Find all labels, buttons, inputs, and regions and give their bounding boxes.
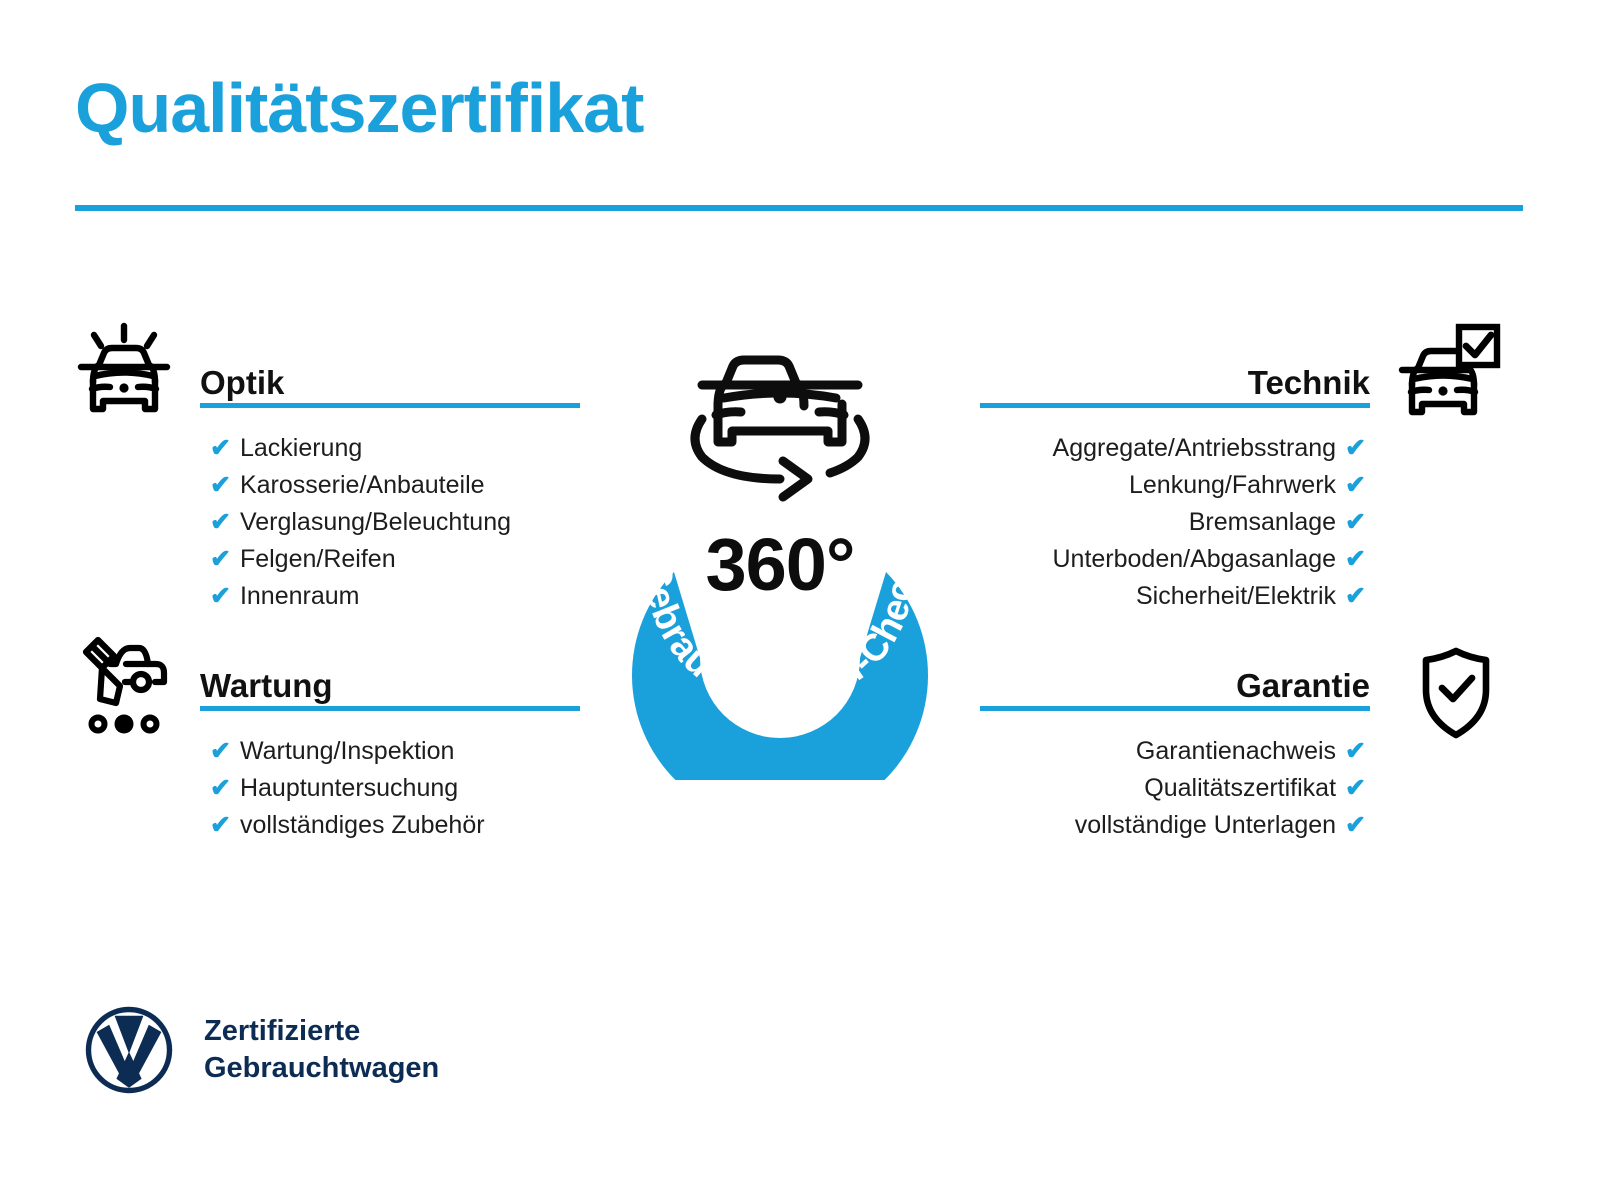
section-garantie-title: Garantie	[1236, 667, 1370, 705]
list-item: ✔Verglasung/Beleuchtung	[210, 504, 580, 541]
car-checkbox-icon	[1398, 320, 1502, 424]
section-garantie-header: Garantie	[980, 655, 1370, 711]
check-icon: ✔	[1345, 545, 1366, 573]
header-divider	[75, 205, 1523, 211]
list-item-label: Lackierung	[240, 434, 362, 462]
volkswagen-lockup: Zertifizierte Gebrauchtwagen	[84, 1005, 439, 1095]
list-item: Lenkung/Fahrwerk✔	[980, 467, 1366, 504]
lockup-line-2: Gebrauchtwagen	[204, 1050, 439, 1087]
check-icon: ✔	[1345, 737, 1366, 765]
list-item-label: Innenraum	[240, 582, 360, 610]
section-garantie: Garantie Garantienachweis✔ Qualitätszert…	[980, 655, 1370, 844]
check-icon: ✔	[210, 545, 231, 573]
list-item: ✔Felgen/Reifen	[210, 541, 580, 578]
section-optik-header: Optik	[200, 352, 580, 408]
list-item-label: Hauptuntersuchung	[240, 774, 458, 802]
check-icon: ✔	[210, 811, 231, 839]
section-wartung-header: Wartung	[200, 655, 580, 711]
certificate-page: Qualitätszertifikat Optik ✔Lackierung ✔K…	[0, 0, 1600, 1200]
check-icon: ✔	[1345, 582, 1366, 610]
section-garantie-list: Garantienachweis✔ Qualitätszertifikat✔ v…	[980, 733, 1370, 844]
check-icon: ✔	[1345, 471, 1366, 499]
section-optik-list: ✔Lackierung ✔Karosserie/Anbauteile ✔Verg…	[200, 430, 580, 615]
page-title: Qualitätszertifikat	[75, 72, 643, 146]
check-icon: ✔	[1345, 508, 1366, 536]
section-technik-title: Technik	[1248, 364, 1370, 402]
section-wartung-title: Wartung	[200, 667, 333, 705]
list-item: Aggregate/Antriebsstrang✔	[980, 430, 1366, 467]
lockup-text: Zertifizierte Gebrauchtwagen	[204, 1013, 439, 1087]
badge-360-check: Gebrauchtwagen-Check	[570, 300, 990, 780]
check-icon: ✔	[1345, 811, 1366, 839]
section-technik: Technik Aggregate/Antriebsstrang✔ Lenkun…	[980, 352, 1370, 615]
car-rotation-icon	[695, 360, 865, 497]
section-technik-list: Aggregate/Antriebsstrang✔ Lenkung/Fahrwe…	[980, 430, 1370, 615]
car-shine-icon	[72, 320, 176, 424]
list-item-label: Karosserie/Anbauteile	[240, 471, 485, 499]
list-item-label: Qualitätszertifikat	[1144, 774, 1336, 802]
lockup-line-1: Zertifizierte	[204, 1013, 439, 1050]
check-icon: ✔	[210, 582, 231, 610]
list-item-label: Unterboden/Abgasanlage	[1052, 545, 1336, 573]
list-item-label: Bremsanlage	[1189, 508, 1336, 536]
section-wartung: Wartung ✔Wartung/Inspektion ✔Hauptunters…	[200, 655, 580, 844]
shield-check-icon	[1404, 638, 1508, 742]
section-optik-title: Optik	[200, 364, 284, 402]
list-item-label: Lenkung/Fahrwerk	[1129, 471, 1336, 499]
check-icon: ✔	[210, 774, 231, 802]
car-service-pencil-icon	[72, 630, 176, 734]
badge-value: 360°	[570, 522, 990, 607]
list-item-label: Aggregate/Antriebsstrang	[1053, 434, 1337, 462]
list-item-label: Verglasung/Beleuchtung	[240, 508, 511, 536]
list-item: Qualitätszertifikat✔	[980, 770, 1366, 807]
section-garantie-rule	[980, 706, 1370, 711]
list-item: ✔vollständiges Zubehör	[210, 807, 580, 844]
section-technik-header: Technik	[980, 352, 1370, 408]
check-icon: ✔	[210, 737, 231, 765]
list-item: ✔Lackierung	[210, 430, 580, 467]
list-item-label: Wartung/Inspektion	[240, 737, 454, 765]
list-item: ✔Innenraum	[210, 578, 580, 615]
section-wartung-list: ✔Wartung/Inspektion ✔Hauptuntersuchung ✔…	[200, 733, 580, 844]
check-icon: ✔	[210, 508, 231, 536]
section-optik-rule	[200, 403, 580, 408]
check-icon: ✔	[1345, 774, 1366, 802]
list-item-label: vollständige Unterlagen	[1075, 811, 1336, 839]
list-item: Sicherheit/Elektrik✔	[980, 578, 1366, 615]
list-item: Garantienachweis✔	[980, 733, 1366, 770]
list-item: Unterboden/Abgasanlage✔	[980, 541, 1366, 578]
list-item: Bremsanlage✔	[980, 504, 1366, 541]
list-item: vollständige Unterlagen✔	[980, 807, 1366, 844]
section-wartung-rule	[200, 706, 580, 711]
volkswagen-logo	[84, 1005, 174, 1095]
list-item-label: Sicherheit/Elektrik	[1136, 582, 1336, 610]
list-item: ✔Karosserie/Anbauteile	[210, 467, 580, 504]
check-icon: ✔	[1345, 434, 1366, 462]
list-item-label: Felgen/Reifen	[240, 545, 396, 573]
check-icon: ✔	[210, 471, 231, 499]
check-icon: ✔	[210, 434, 231, 462]
list-item-label: Garantienachweis	[1136, 737, 1336, 765]
list-item: ✔Hauptuntersuchung	[210, 770, 580, 807]
list-item-label: vollständiges Zubehör	[240, 811, 485, 839]
section-optik: Optik ✔Lackierung ✔Karosserie/Anbauteile…	[200, 352, 580, 615]
list-item: ✔Wartung/Inspektion	[210, 733, 580, 770]
section-technik-rule	[980, 403, 1370, 408]
